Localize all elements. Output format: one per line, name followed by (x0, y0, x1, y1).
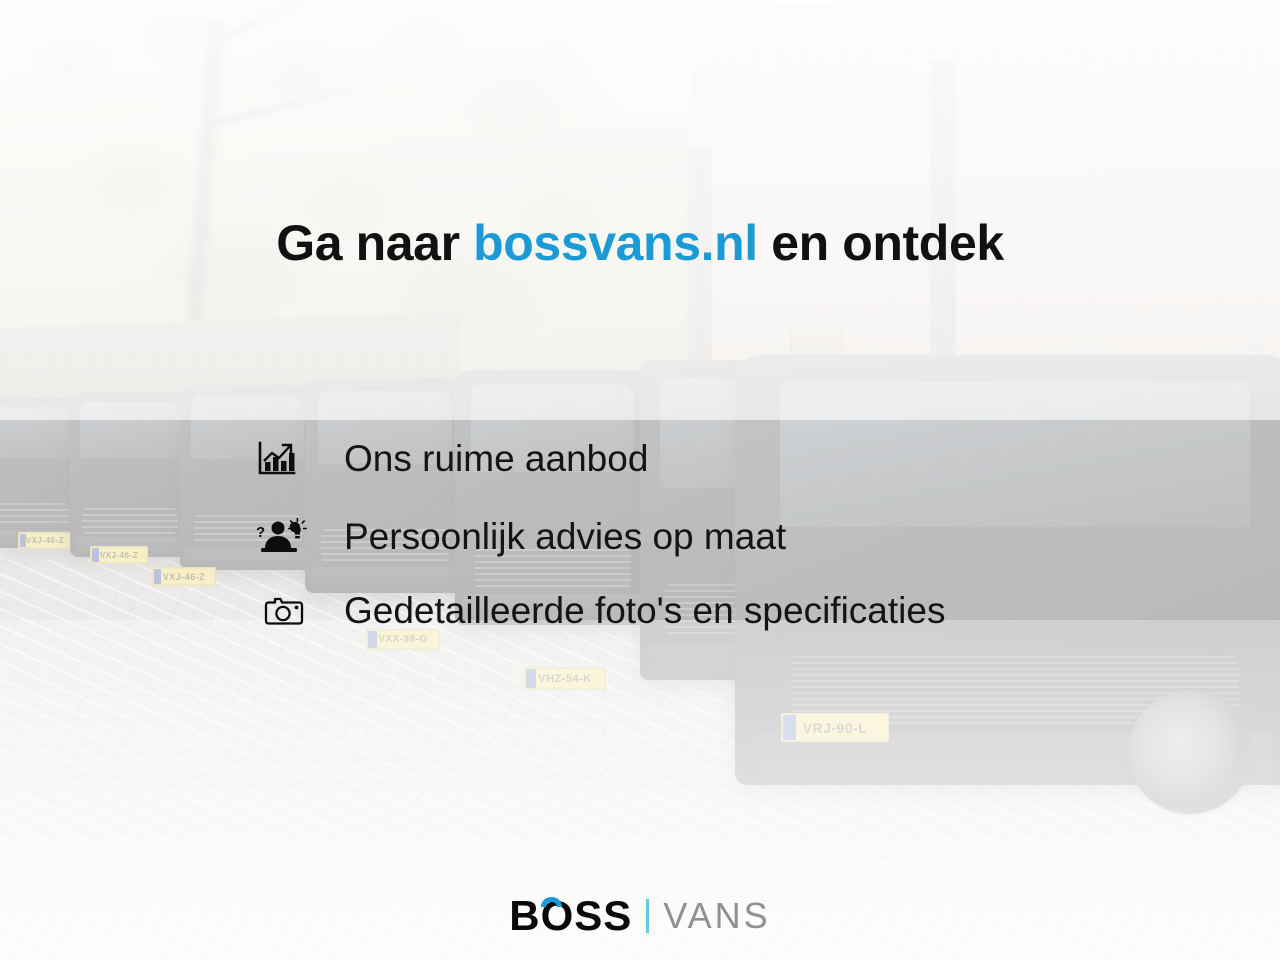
camera-icon (256, 595, 312, 627)
list-item: Gedetailleerde foto's en specificaties (256, 576, 1156, 646)
overlay-content: Ga naar bossvans.nl en ontdek Ons ruime … (0, 0, 1280, 960)
svg-text:?: ? (256, 524, 265, 541)
logo-vans-text: VANS (663, 895, 770, 937)
headline-part-after: en ontdek (758, 215, 1004, 271)
list-item-label: Ons ruime aanbod (312, 439, 648, 479)
personal-advice-icon: ? (256, 517, 312, 557)
list-item-label: Persoonlijk advies op maat (312, 517, 786, 557)
feature-list: Ons ruime aanbod ? Persoonlijk advies op… (256, 420, 1156, 646)
promo-banner: VXJ-46-Z VXJ-46-Z VXJ-46-Z VXX-98-G VHZ-… (0, 0, 1280, 960)
logo-divider (646, 899, 649, 933)
bar-chart-growth-icon (256, 439, 312, 479)
logo-boss-text: BOSS (509, 892, 632, 939)
list-item-label: Gedetailleerde foto's en specificaties (312, 591, 945, 631)
brand-logo: BOSS VANS (0, 892, 1280, 940)
list-item: Ons ruime aanbod (256, 420, 1156, 498)
headline-website-link: bossvans.nl (473, 215, 758, 271)
list-item: ? Persoonlijk advies op maat (256, 498, 1156, 576)
logo-boss-wordmark: BOSS (509, 892, 632, 940)
page-title: Ga naar bossvans.nl en ontdek (0, 214, 1280, 272)
headline-part-before: Ga naar (276, 215, 473, 271)
